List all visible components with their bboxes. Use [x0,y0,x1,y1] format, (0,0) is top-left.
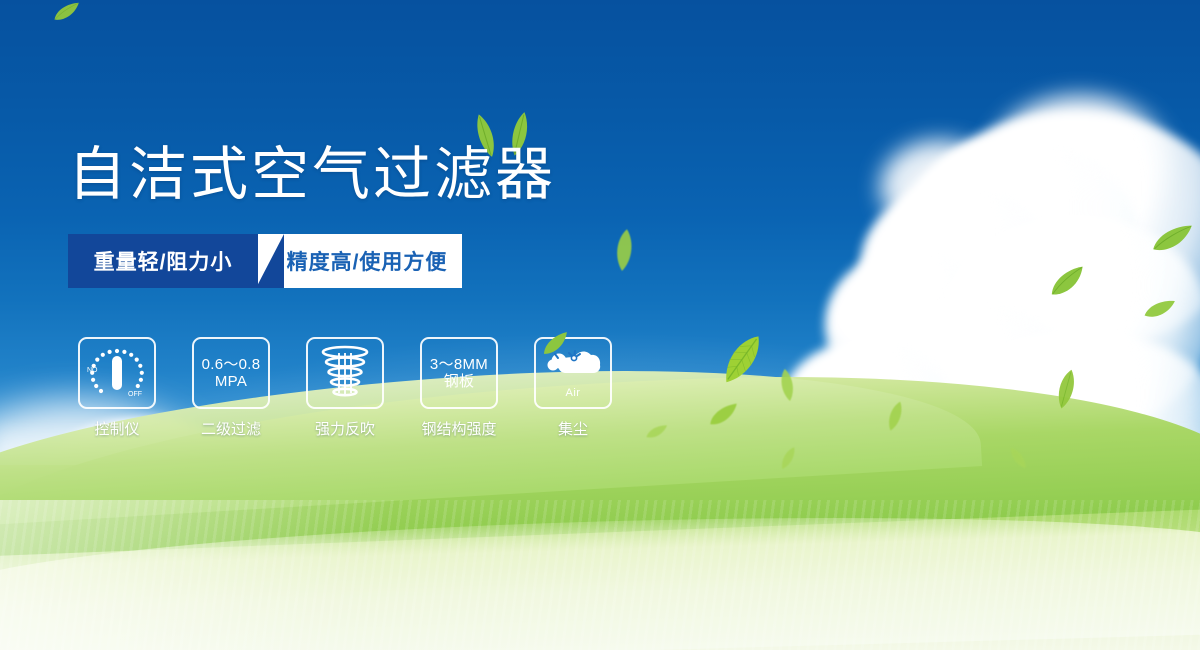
dial-no-label: NO [87,367,98,374]
feature-icon-box: NO OFF [78,337,156,409]
feature-value-line2: MPA [202,373,261,390]
banner-hero: 自洁式空气过滤器 重量轻/阻力小 精度高/使用方便 [0,0,1200,650]
feature-value-line1: 0.6～0.8 [202,356,261,373]
coil-spring-icon [319,345,371,401]
feature-item-filtration[interactable]: 0.6～0.8 MPA 二级过滤 [192,337,270,439]
feature-value-line1: 3～8MM [430,356,488,373]
subtitle-right-label: 精度高/使用方便 [258,234,462,288]
feature-value-line2: 钢板 [430,373,488,390]
dial-gauge-icon: NO OFF [86,345,148,401]
feature-icon-box: 3～8MM 钢板 [420,337,498,409]
feature-icon-box: Air [534,337,612,409]
feature-list: NO OFF 控制仪 0.6～0.8 MPA 二级过滤 [78,337,612,439]
feature-label: 二级过滤 [201,418,261,439]
feature-label: 强力反吹 [315,418,375,439]
page-title: 自洁式空气过滤器 [68,146,556,204]
feature-label: 集尘 [558,418,588,439]
subtitle-bar: 重量轻/阻力小 精度高/使用方便 [68,234,462,288]
feature-item-blowback[interactable]: 强力反吹 [306,337,384,439]
feature-icon-box [306,337,384,409]
feature-label: 控制仪 [94,418,139,439]
feature-item-controller[interactable]: NO OFF 控制仪 [78,337,156,439]
subtitle-left-label: 重量轻/阻力小 [68,234,258,288]
feature-item-dust-collection[interactable]: Air 集尘 [534,337,612,439]
feature-label: 钢结构强度 [421,418,496,439]
cloud-air-label: Air [566,387,581,399]
feature-icon-box: 0.6～0.8 MPA [192,337,270,409]
feature-item-steel[interactable]: 3～8MM 钢板 钢结构强度 [420,337,498,439]
dial-off-label: OFF [128,391,142,398]
